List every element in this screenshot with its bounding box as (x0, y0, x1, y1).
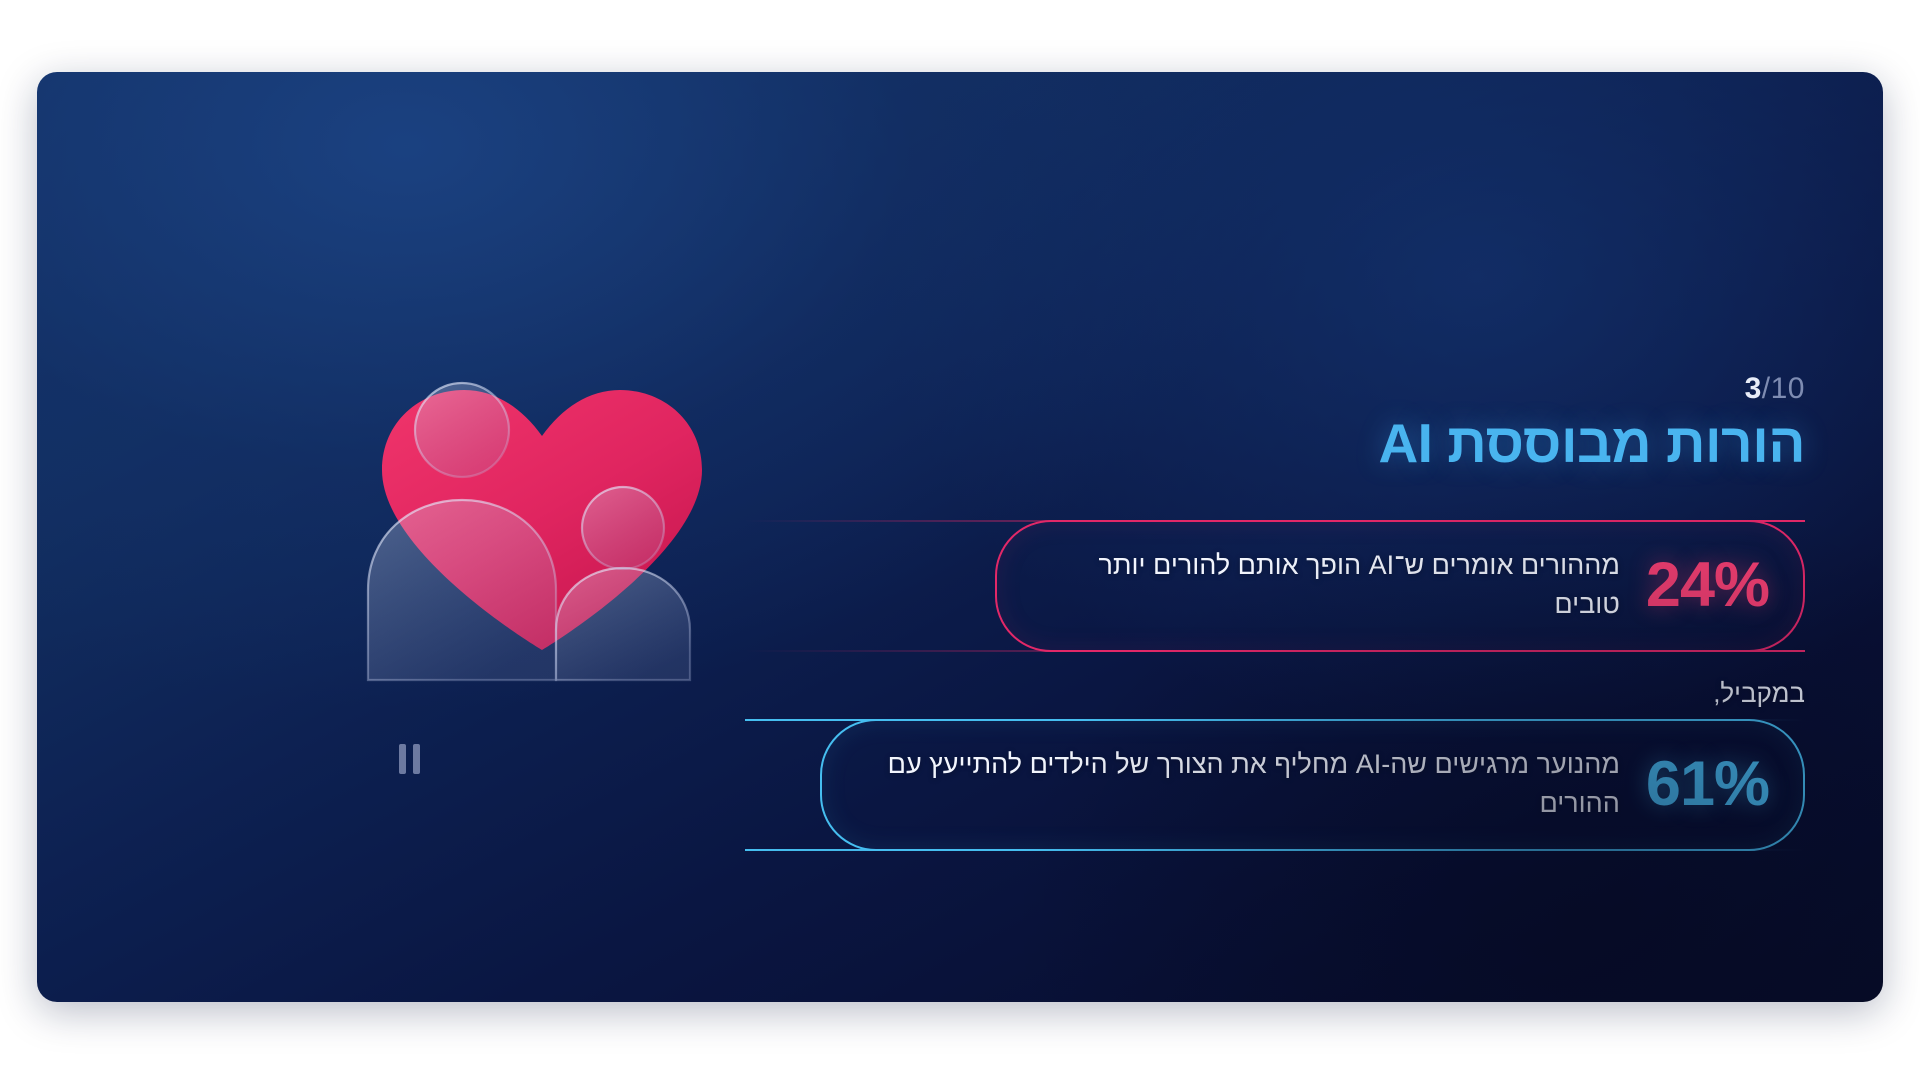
slide-counter-current: 3 (1745, 372, 1762, 405)
adult-body-shape (368, 500, 556, 680)
stat-lead-label: במקביל, (745, 678, 1805, 709)
slide-card: 3/10 הורות מבוססת AI 24% מההורים אומרים … (37, 72, 1883, 1002)
stat-percent-2: 61% (1646, 753, 1769, 816)
stat-description-1: מההורים אומרים ש־AI הופך אותם להורים יות… (1037, 546, 1620, 624)
child-head-shape (582, 487, 664, 569)
stat-percent-1: 24% (1646, 554, 1769, 617)
slide-counter-total: 10 (1771, 372, 1805, 405)
slide-counter: 3/10 (745, 372, 1805, 405)
child-body-shape (556, 568, 690, 680)
page-title: הורות מבוססת AI (745, 411, 1805, 476)
family-heart-illustration (342, 350, 742, 690)
stat-card-parents-ai-better[interactable]: 24% מההורים אומרים ש־AI הופך אותם להורים… (995, 520, 1805, 652)
stat-card-teens-ai-replaces[interactable]: 61% מהנוער מרגישים שה-AI מחליף את הצורך … (820, 719, 1805, 851)
stat-block-1: 24% מההורים אומרים ש־AI הופך אותם להורים… (745, 520, 1805, 652)
stat-description-2: מהנוער מרגישים שה-AI מחליף את הצורך של ה… (862, 745, 1620, 823)
pause-bar-right (399, 744, 406, 774)
stat-block-2: 61% מהנוער מרגישים שה-AI מחליף את הצורך … (745, 719, 1805, 851)
content-column: 3/10 הורות מבוססת AI 24% מההורים אומרים … (745, 372, 1805, 869)
pause-bar-left (413, 744, 420, 774)
slide-counter-separator: / (1762, 372, 1771, 405)
pause-icon[interactable] (394, 744, 420, 774)
adult-head-shape (415, 383, 509, 477)
